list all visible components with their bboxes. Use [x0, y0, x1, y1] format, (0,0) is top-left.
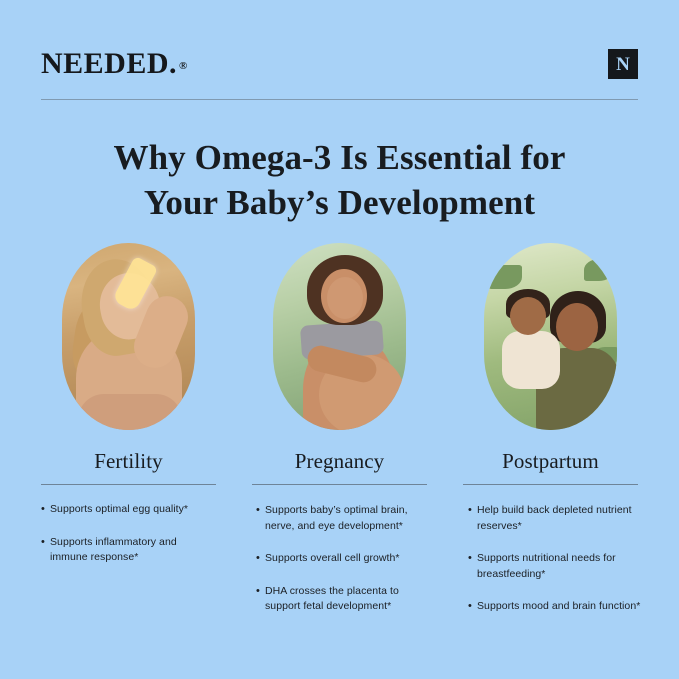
list-item: • Supports mood and brain function*: [468, 599, 643, 615]
brand-monogram-letter: N: [616, 55, 630, 74]
bullet-text: DHA crosses the placenta to support feta…: [265, 584, 431, 615]
bullet-text: Supports baby’s optimal brain, nerve, an…: [265, 503, 431, 534]
bullet-text: Supports mood and brain function*: [477, 599, 640, 615]
brand-period: .: [169, 49, 177, 79]
column-pregnancy: Pregnancy • Supports baby’s optimal brai…: [252, 243, 427, 632]
bullet-marker-icon: •: [256, 503, 265, 519]
column-title-fertility: Fertility: [94, 450, 163, 473]
bullet-text: Supports nutritional needs for breastfee…: [477, 551, 643, 582]
list-item: • Help build back depleted nutrient rese…: [468, 503, 643, 534]
list-item: • Supports overall cell growth*: [256, 551, 431, 567]
bullet-marker-icon: •: [468, 551, 477, 567]
column-divider-pregnancy: [252, 484, 427, 485]
bullet-marker-icon: •: [41, 535, 50, 551]
header-divider: [41, 99, 638, 100]
bullet-list-pregnancy: • Supports baby’s optimal brain, nerve, …: [248, 503, 431, 632]
page-title: Why Omega-3 Is Essential for Your Baby’s…: [41, 136, 638, 224]
bullet-marker-icon: •: [468, 599, 477, 615]
list-item: • Supports inflammatory and immune respo…: [41, 535, 216, 566]
page-title-line-1: Why Omega-3 Is Essential for: [41, 136, 638, 180]
column-postpartum: Postpartum • Help build back depleted nu…: [463, 243, 638, 632]
pregnant-woman-icon: [273, 243, 406, 430]
brand-name: NEEDED: [41, 49, 169, 79]
column-divider-fertility: [41, 484, 216, 485]
bullet-list-fertility: • Supports optimal egg quality* • Suppor…: [41, 502, 216, 583]
bullet-text: Help build back depleted nutrient reserv…: [477, 503, 643, 534]
bullet-marker-icon: •: [256, 551, 265, 567]
list-item: • Supports nutritional needs for breastf…: [468, 551, 643, 582]
bullet-marker-icon: •: [41, 502, 50, 518]
bullet-list-postpartum: • Help build back depleted nutrient rese…: [458, 503, 643, 632]
column-fertility: Fertility • Supports optimal egg quality…: [41, 243, 216, 632]
column-title-pregnancy: Pregnancy: [295, 450, 385, 473]
list-item: • Supports baby’s optimal brain, nerve, …: [256, 503, 431, 534]
list-item: • DHA crosses the placenta to support fe…: [256, 584, 431, 615]
bullet-text: Supports optimal egg quality*: [50, 502, 188, 518]
stage-columns: Fertility • Supports optimal egg quality…: [41, 243, 638, 632]
bullet-text: Supports inflammatory and immune respons…: [50, 535, 216, 566]
bullet-text: Supports overall cell growth*: [265, 551, 400, 567]
brand-logo: NEEDED.®: [41, 49, 188, 79]
page-header: NEEDED.® N: [41, 38, 638, 90]
woman-drinking-icon: [62, 243, 195, 430]
infographic-page: NEEDED.® N Why Omega-3 Is Essential for …: [0, 0, 679, 679]
list-item: • Supports optimal egg quality*: [41, 502, 216, 518]
bullet-marker-icon: •: [256, 584, 265, 600]
mother-and-baby-icon: [484, 243, 617, 430]
page-title-line-2: Your Baby’s Development: [41, 181, 638, 225]
bullet-marker-icon: •: [468, 503, 477, 519]
column-title-postpartum: Postpartum: [502, 450, 599, 473]
brand-monogram-icon: N: [608, 49, 638, 79]
column-divider-postpartum: [463, 484, 638, 485]
registered-mark: ®: [179, 61, 188, 72]
